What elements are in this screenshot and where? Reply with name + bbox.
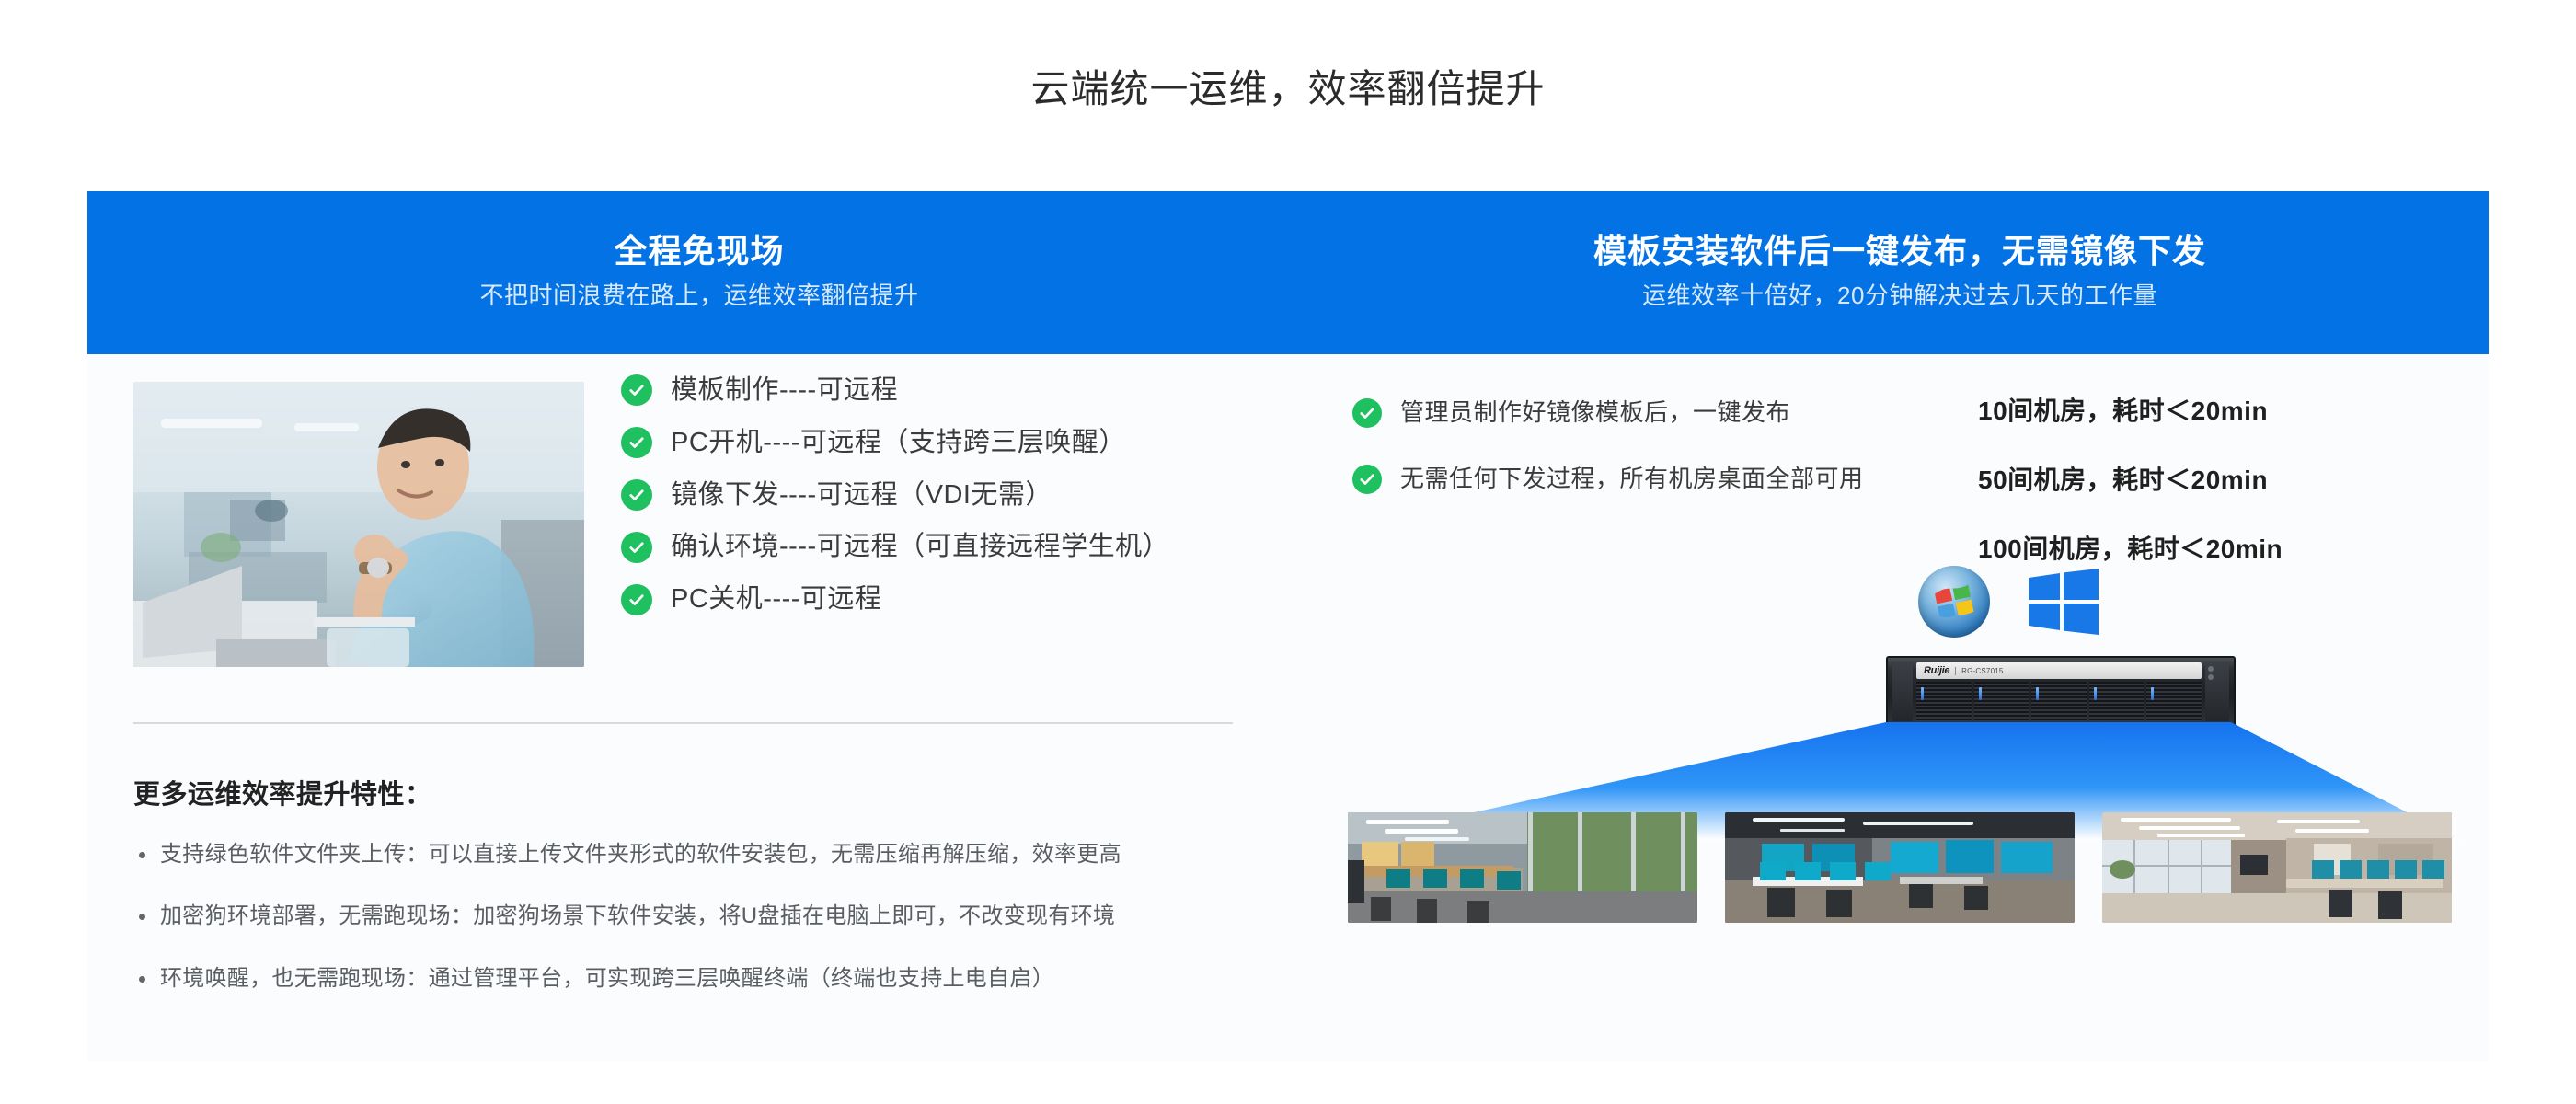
list-item: 加密狗环境部署，无需跑现场：加密狗场景下软件安装，将U盘插在电脑上即可，不改变现…	[139, 902, 1271, 931]
list-item-label: 确认环境----可远程（可直接远程学生机）	[671, 531, 1169, 563]
server-faceplate: Ruijie RG-CS7015	[1916, 662, 2202, 721]
stat-100-rooms: 100间机房，耗时＜20min	[1978, 529, 2283, 566]
list-item-label: 加密狗环境部署，无需跑现场：加密狗场景下软件安装，将U盘插在电脑上即可，不改变现…	[160, 902, 1115, 931]
check-circle-icon	[621, 427, 652, 458]
list-item-label: PC关机----可远程	[671, 583, 881, 615]
list-item: 无需任何下发过程，所有机房桌面全部可用	[1352, 465, 1864, 494]
left-card-body: 模板制作----可远程 PC开机----可远程（支持跨三层唤醒） 镜像下发---…	[87, 354, 1311, 1061]
right-feature-card: 模板安装软件后一键发布，无需镜像下发 运维效率十倍好，20分钟解决过去几天的工作…	[1311, 191, 2489, 1061]
right-check-list: 管理员制作好镜像模板后，一键发布 无需任何下发过程，所有机房桌面全部可用	[1352, 398, 1864, 494]
server-psu-panel	[2205, 662, 2229, 721]
classroom-photo-1	[1348, 812, 1697, 923]
drive-bay	[2146, 682, 2202, 721]
left-check-list: 模板制作----可远程 PC开机----可远程（支持跨三层唤醒） 镜像下发---…	[621, 374, 1169, 615]
list-item-label: 无需任何下发过程，所有机房桌面全部可用	[1400, 465, 1864, 493]
drive-bay	[2089, 682, 2145, 721]
right-card-subtitle: 运维效率十倍好，20分钟解决过去几天的工作量	[1642, 281, 2157, 312]
page-root: 云端统一运维，效率翻倍提升 全程免现场 不把时间浪费在路上，运维效率翻倍提升	[0, 0, 2576, 1104]
left-card-title: 全程免现场	[614, 230, 784, 271]
check-circle-icon	[621, 584, 652, 615]
check-circle-icon	[621, 479, 652, 511]
list-item-label: 支持绿色软件文件夹上传：可以直接上传文件夹形式的软件安装包，无需压缩再解压缩，效…	[160, 840, 1121, 869]
server-model-label: RG-CS7015	[1961, 667, 2003, 675]
classroom-photo-row	[1348, 812, 2452, 923]
list-item: 管理员制作好镜像模板后，一键发布	[1352, 398, 1864, 428]
bullet-dot-icon	[139, 976, 145, 983]
windows-10-logo-icon	[2029, 569, 2099, 635]
drive-bay	[1916, 682, 1972, 721]
windows-7-orb-icon	[1918, 566, 1990, 638]
classroom-photo-2	[1725, 812, 2075, 923]
classroom-photo-3	[2102, 812, 2452, 923]
drive-bay	[2031, 682, 2087, 721]
rack-server-icon: Ruijie RG-CS7015	[1886, 656, 2236, 728]
page-title: 云端统一运维，效率翻倍提升	[0, 66, 2576, 112]
left-feature-card: 全程免现场 不把时间浪费在路上，运维效率翻倍提升	[87, 191, 1311, 1061]
more-features-heading: 更多运维效率提升特性：	[133, 773, 432, 811]
list-item: 环境唤醒，也无需跑现场：通过管理平台，可实现跨三层唤醒终端（终端也支持上电自启）	[139, 964, 1271, 994]
drive-bay	[1974, 682, 2030, 721]
list-item-label: 环境唤醒，也无需跑现场：通过管理平台，可实现跨三层唤醒终端（终端也支持上电自启）	[160, 964, 1054, 994]
list-item: PC开机----可远程（支持跨三层唤醒）	[621, 427, 1169, 459]
right-card-header: 模板安装软件后一键发布，无需镜像下发 运维效率十倍好，20分钟解决过去几天的工作…	[1311, 191, 2489, 354]
server-ear-left	[1892, 662, 1913, 721]
server-drive-bays	[1916, 682, 2202, 721]
psu-indicator	[2208, 666, 2214, 672]
bullet-dot-icon	[139, 914, 145, 920]
left-card-header: 全程免现场 不把时间浪费在路上，运维效率翻倍提升	[87, 191, 1311, 354]
check-circle-icon	[621, 374, 652, 406]
stat-10-rooms: 10间机房，耗时＜20min	[1978, 391, 2283, 428]
left-card-subtitle: 不把时间浪费在路上，运维效率翻倍提升	[479, 281, 918, 312]
more-features-list: 支持绿色软件文件夹上传：可以直接上传文件夹形式的软件安装包，无需压缩再解压缩，效…	[139, 840, 1271, 994]
office-worker-photo	[133, 382, 584, 667]
check-circle-icon	[1352, 398, 1382, 428]
check-circle-icon	[621, 532, 652, 563]
server-brand-name: Ruijie	[1924, 665, 1949, 676]
list-item: 确认环境----可远程（可直接远程学生机）	[621, 531, 1169, 563]
psu-indicator	[2208, 674, 2214, 680]
section-divider	[133, 722, 1233, 724]
list-item-label: PC开机----可远程（支持跨三层唤醒）	[671, 427, 1126, 459]
list-item-label: 管理员制作好镜像模板后，一键发布	[1400, 398, 1790, 427]
stat-50-rooms: 50间机房，耗时＜20min	[1978, 460, 2283, 497]
right-card-body: 管理员制作好镜像模板后，一键发布 无需任何下发过程，所有机房桌面全部可用 10间…	[1311, 354, 2489, 1061]
throughput-stats: 10间机房，耗时＜20min 50间机房，耗时＜20min 100间机房，耗时＜…	[1978, 391, 2283, 566]
list-item: 镜像下发----可远程（VDI无需）	[621, 479, 1169, 512]
bullet-dot-icon	[139, 852, 145, 858]
list-item-label: 镜像下发----可远程（VDI无需）	[671, 479, 1052, 512]
list-item: 支持绿色软件文件夹上传：可以直接上传文件夹形式的软件安装包，无需压缩再解压缩，效…	[139, 840, 1271, 869]
server-brand-strip: Ruijie RG-CS7015	[1916, 662, 2202, 679]
list-item-label: 模板制作----可远程	[671, 374, 898, 407]
check-circle-icon	[1352, 465, 1382, 494]
server-brand-separator	[1955, 667, 1956, 675]
right-card-title: 模板安装软件后一键发布，无需镜像下发	[1593, 230, 2206, 271]
list-item: PC关机----可远程	[621, 583, 1169, 615]
list-item: 模板制作----可远程	[621, 374, 1169, 407]
os-logo-group	[1918, 566, 2099, 638]
